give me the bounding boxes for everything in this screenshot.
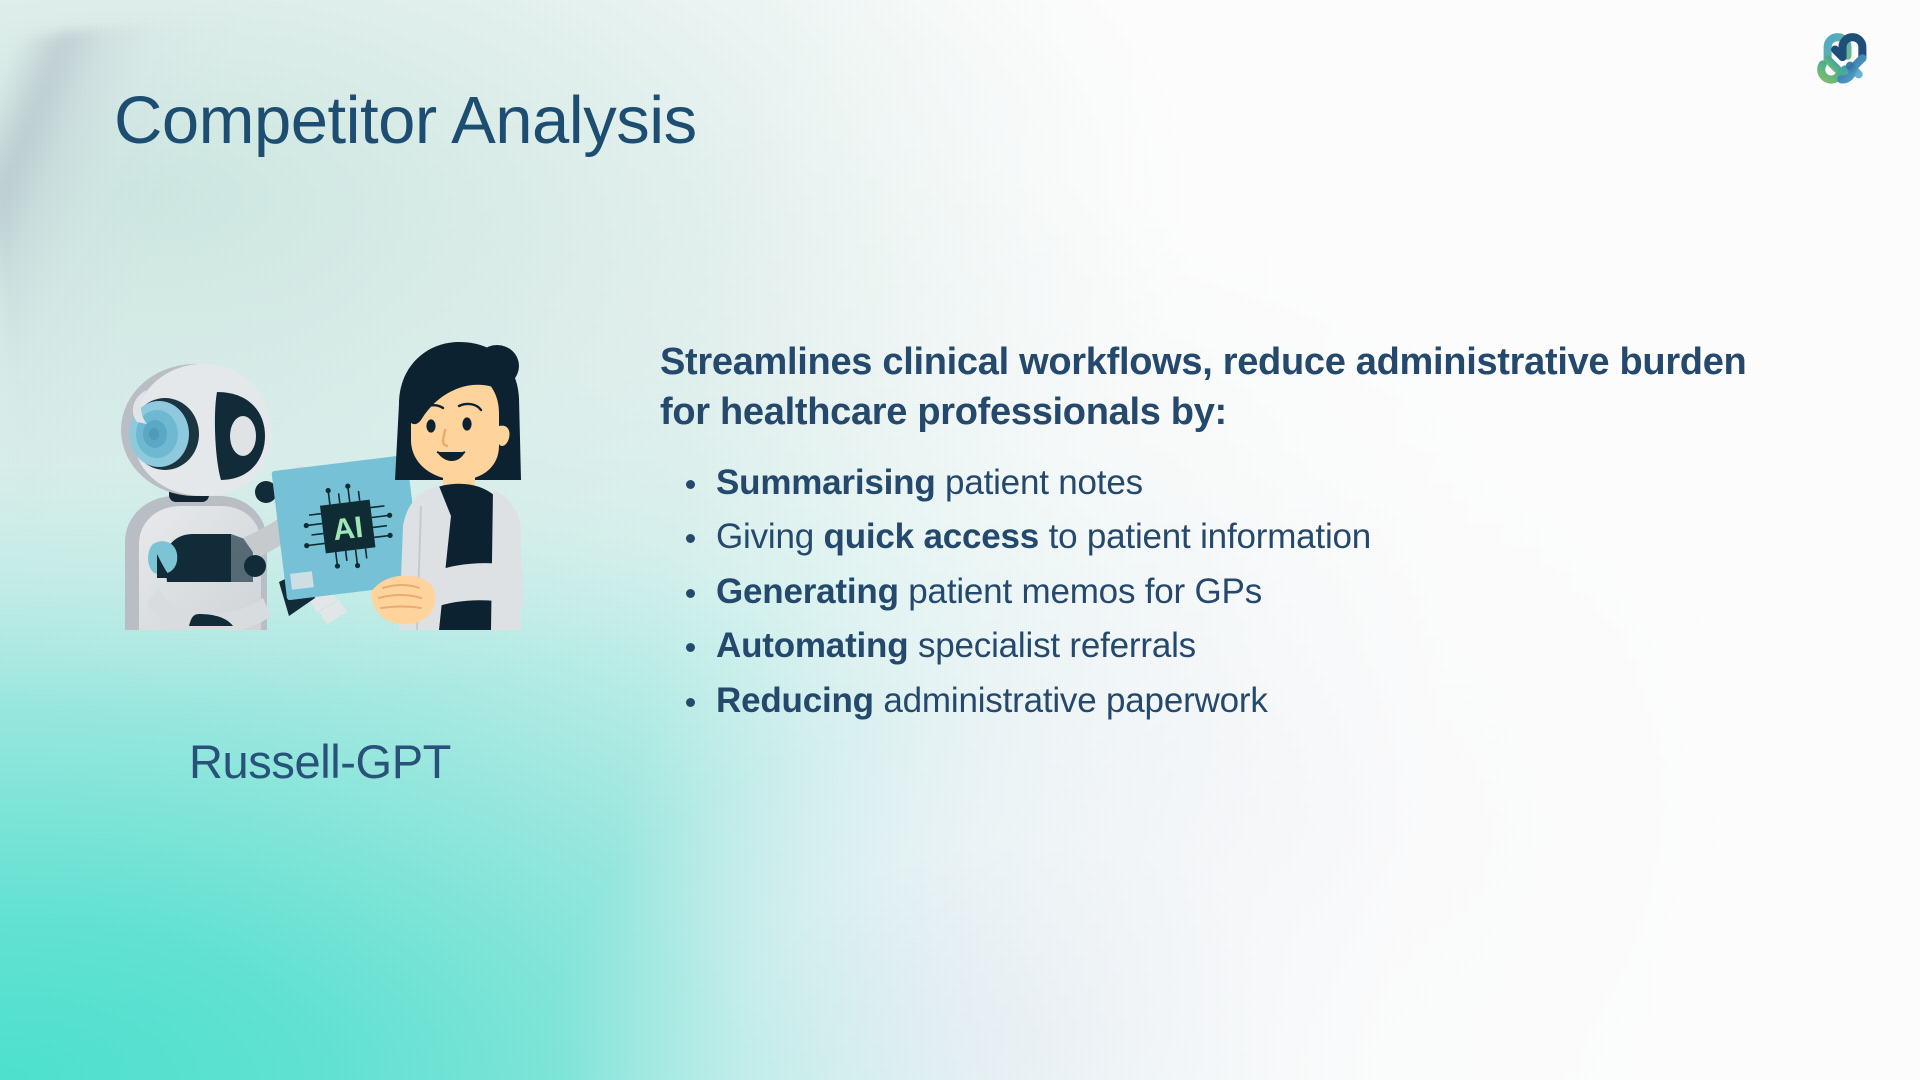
content-block: Streamlines clinical workflows, reduce a… <box>660 338 1840 729</box>
list-item-text: specialist referrals <box>908 626 1196 665</box>
robot-clinician-illustration: AI <box>103 330 523 630</box>
list-item: Giving quick access to patient informati… <box>716 510 1840 565</box>
list-item-lead: Giving <box>716 517 824 556</box>
slide-canvas: Competitor Analysis <box>0 0 1920 1080</box>
list-item: Reducing administrative paperwork <box>716 674 1840 729</box>
list-item-emphasis: Generating <box>716 572 899 611</box>
svg-text:AI: AI <box>331 511 365 547</box>
list-item-text: to patient information <box>1039 517 1371 556</box>
list-item-emphasis: quick access <box>824 517 1040 556</box>
list-item-emphasis: Reducing <box>716 681 874 720</box>
list-item-text: patient memos for GPs <box>899 572 1262 611</box>
list-item: Generating patient memos for GPs <box>716 565 1840 620</box>
product-label: Russell-GPT <box>150 734 490 789</box>
page-title: Competitor Analysis <box>114 82 697 159</box>
list-item: Summarising patient notes <box>716 456 1840 511</box>
list-item-emphasis: Automating <box>716 626 908 665</box>
list-item-emphasis: Summarising <box>716 463 936 502</box>
list-item: Automating specialist referrals <box>716 619 1840 674</box>
benefits-list: Summarising patient notesGiving quick ac… <box>660 456 1840 729</box>
list-item-text: administrative paperwork <box>874 681 1268 720</box>
list-item-text: patient notes <box>936 463 1143 502</box>
headline-text: Streamlines clinical workflows, reduce a… <box>660 338 1805 438</box>
brand-logo <box>1814 26 1876 88</box>
